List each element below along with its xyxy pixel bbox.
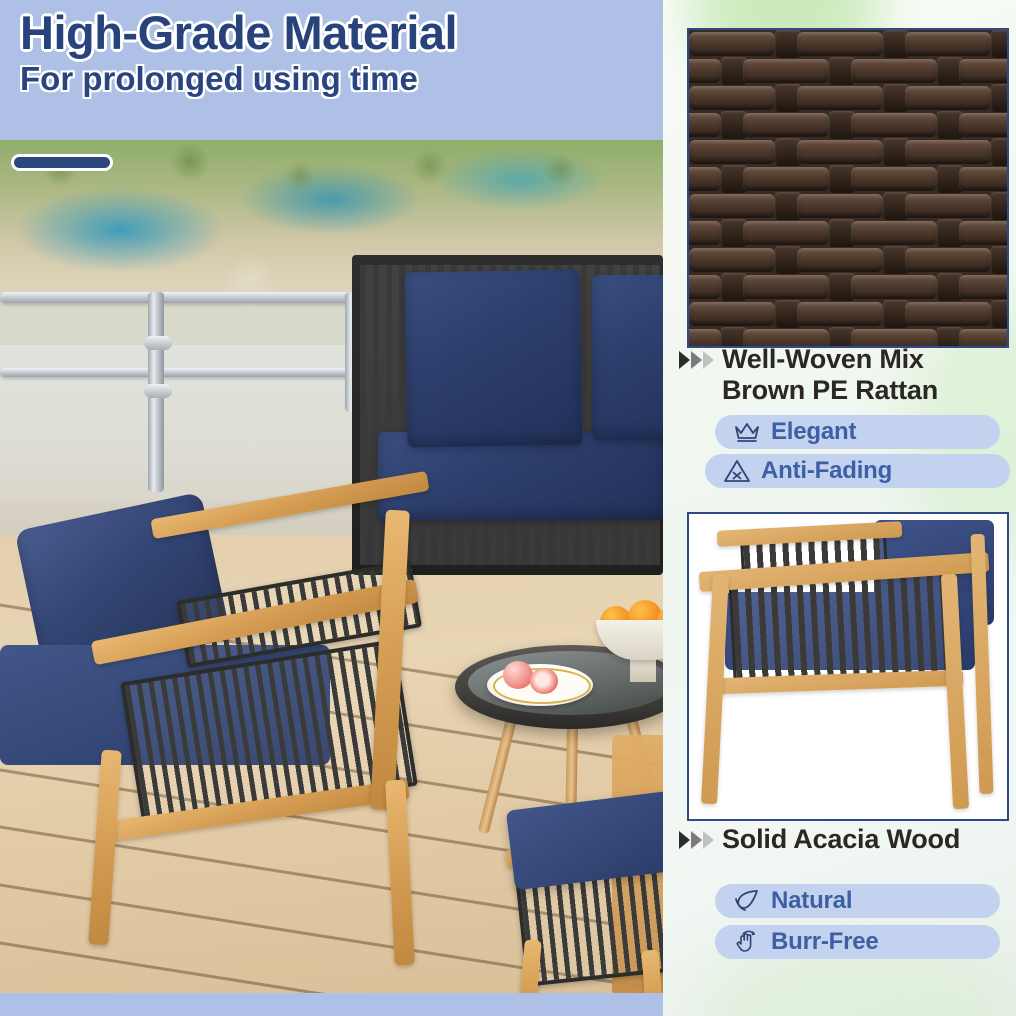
- chevron-right-icon: [679, 351, 690, 369]
- rattan-strand: [905, 302, 991, 326]
- rattan-weave-texture: [689, 30, 1007, 346]
- rattan-strand: [743, 275, 829, 299]
- rattan-strand: [959, 167, 1009, 191]
- rattan-strand: [689, 32, 775, 56]
- chevron-right-icon: [691, 351, 702, 369]
- rattan-strand: [905, 32, 991, 56]
- rattan-strand: [797, 194, 883, 218]
- rattan-strand: [743, 167, 829, 191]
- badge-label: Elegant: [771, 418, 856, 446]
- rattan-strand: [851, 167, 937, 191]
- rattan-strand: [687, 113, 721, 137]
- rattan-strand: [743, 59, 829, 83]
- brand-logo-badge: [14, 157, 110, 168]
- rattan-strand: [743, 221, 829, 245]
- right-feature-column: Well-Woven Mix Brown PE Rattan Elegant A…: [663, 0, 1016, 1016]
- chevron-right-icon: [703, 831, 714, 849]
- rattan-knot: [991, 30, 1009, 58]
- sliced-guava: [530, 668, 558, 694]
- badge-label: Anti-Fading: [761, 457, 892, 485]
- rattan-strand: [959, 113, 1009, 137]
- chevron-right-icon: [703, 351, 714, 369]
- hand-touch-icon: [733, 929, 761, 955]
- rattan-strand: [905, 194, 991, 218]
- rattan-strand: [689, 302, 775, 326]
- rattan-strand: [959, 221, 1009, 245]
- rattan-swatch-card: [687, 28, 1009, 348]
- page-title: High-Grade Material: [20, 8, 660, 58]
- rattan-strand: [689, 86, 775, 110]
- acacia-wood-photo-card: [687, 512, 1009, 821]
- rattan-strand: [687, 221, 721, 245]
- headline-block: High-Grade Material For prolonged using …: [20, 8, 660, 97]
- rattan-strand: [851, 221, 937, 245]
- badge-elegant[interactable]: Elegant: [715, 415, 1000, 449]
- badge-label: Natural: [771, 887, 852, 915]
- chevron-right-icon: [691, 831, 702, 849]
- rattan-strand: [797, 86, 883, 110]
- rattan-knot: [991, 192, 1009, 220]
- chevron-arrows-icon: [679, 344, 714, 369]
- badge-natural[interactable]: Natural: [715, 884, 1000, 918]
- hero-lifestyle-photo: [0, 140, 663, 993]
- rattan-strand: [797, 248, 883, 272]
- rattan-strand: [687, 275, 721, 299]
- left-panel: High-Grade Material For prolonged using …: [0, 0, 663, 1016]
- rattan-strand: [689, 194, 775, 218]
- railing-knob: [144, 384, 172, 398]
- rattan-strand: [851, 275, 937, 299]
- rattan-strand: [687, 167, 721, 191]
- rattan-strand: [959, 59, 1009, 83]
- chevron-right-icon: [679, 831, 690, 849]
- badge-anti-fading[interactable]: Anti-Fading: [705, 454, 1010, 488]
- rattan-knot: [991, 138, 1009, 166]
- rattan-strand: [743, 113, 829, 137]
- rattan-strand: [905, 86, 991, 110]
- rattan-strand: [905, 140, 991, 164]
- badge-burr-free[interactable]: Burr-Free: [715, 925, 1000, 959]
- rattan-strand: [689, 140, 775, 164]
- page-subtitle: For prolonged using time: [20, 61, 660, 97]
- rattan-strand: [905, 248, 991, 272]
- rattan-knot: [991, 246, 1009, 274]
- rattan-strand: [797, 32, 883, 56]
- crown-icon: [733, 420, 761, 444]
- sofa-pillow: [404, 269, 582, 447]
- feature-title-text: Solid Acacia Wood: [722, 824, 960, 855]
- promo-banner: High-Grade Material For prolonged using …: [0, 0, 1016, 1016]
- rattan-strand: [851, 113, 937, 137]
- railing-knob: [144, 336, 172, 350]
- leaf-icon: [733, 888, 761, 914]
- rattan-strand: [959, 275, 1009, 299]
- rattan-knot: [991, 300, 1009, 328]
- rattan-strand: [689, 248, 775, 272]
- rattan-knot: [991, 84, 1009, 112]
- feature-title-text: Well-Woven Mix Brown PE Rattan: [722, 344, 1009, 406]
- sliced-guava: [503, 661, 533, 689]
- rattan-strand: [851, 59, 937, 83]
- rattan-strand: [797, 302, 883, 326]
- anti-fade-icon: [723, 458, 751, 484]
- feature-heading-wood: Solid Acacia Wood: [679, 824, 1016, 855]
- badge-label: Burr-Free: [771, 928, 879, 956]
- feature-heading-rattan: Well-Woven Mix Brown PE Rattan: [679, 344, 1009, 406]
- sofa-pillow: [592, 275, 663, 440]
- rattan-strand: [797, 140, 883, 164]
- chevron-arrows-icon: [679, 824, 714, 849]
- rattan-strand: [687, 59, 721, 83]
